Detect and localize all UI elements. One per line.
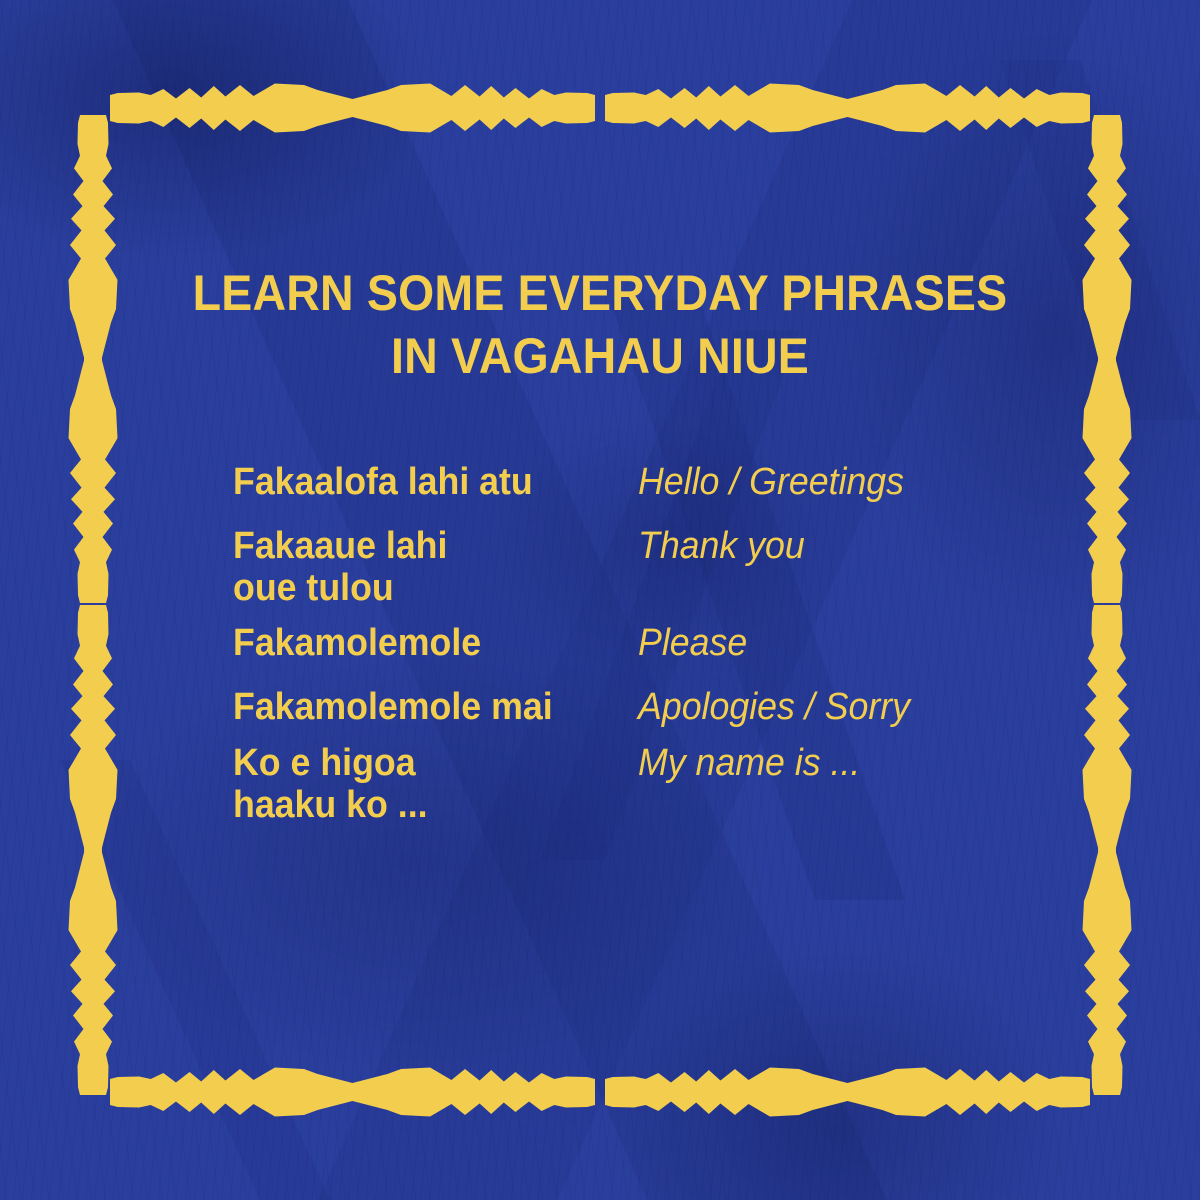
poster-canvas: LEARN SOME EVERYDAY PHRASES IN VAGAHAU N… <box>0 0 1200 1200</box>
phrase-niuean: Fakaaue lahi oue tulou <box>233 526 614 610</box>
phrase-niuean: Fakaalofa lahi atu <box>233 462 614 504</box>
phrase-english: Thank you <box>638 526 1000 568</box>
phrase-niuean: Ko e higoa haaku ko ... <box>233 743 614 827</box>
phrase-row: Fakamolemole mai Apologies / Sorry <box>233 687 1023 729</box>
phrase-english: My name is ... <box>638 743 1000 785</box>
phrase-english: Apologies / Sorry <box>638 687 1000 729</box>
phrase-row: Ko e higoa haaku ko ... My name is ... <box>233 743 1023 827</box>
phrase-row: Fakamolemole Please <box>233 623 1023 665</box>
phrase-niuean: Fakamolemole <box>233 623 614 665</box>
phrase-list: Fakaalofa lahi atu Hello / Greetings Fak… <box>233 462 1023 827</box>
phrase-row: Fakaaue lahi oue tulou Thank you <box>233 526 1023 610</box>
poster-content: LEARN SOME EVERYDAY PHRASES IN VAGAHAU N… <box>0 0 1200 1200</box>
title-line-1: LEARN SOME EVERYDAY PHRASES <box>42 262 1158 325</box>
page-title: LEARN SOME EVERYDAY PHRASES IN VAGAHAU N… <box>42 262 1158 388</box>
phrase-row: Fakaalofa lahi atu Hello / Greetings <box>233 462 1023 504</box>
phrase-english: Please <box>638 623 1000 665</box>
phrase-english: Hello / Greetings <box>638 462 1000 504</box>
title-line-2: IN VAGAHAU NIUE <box>42 325 1158 388</box>
phrase-niuean: Fakamolemole mai <box>233 687 614 729</box>
